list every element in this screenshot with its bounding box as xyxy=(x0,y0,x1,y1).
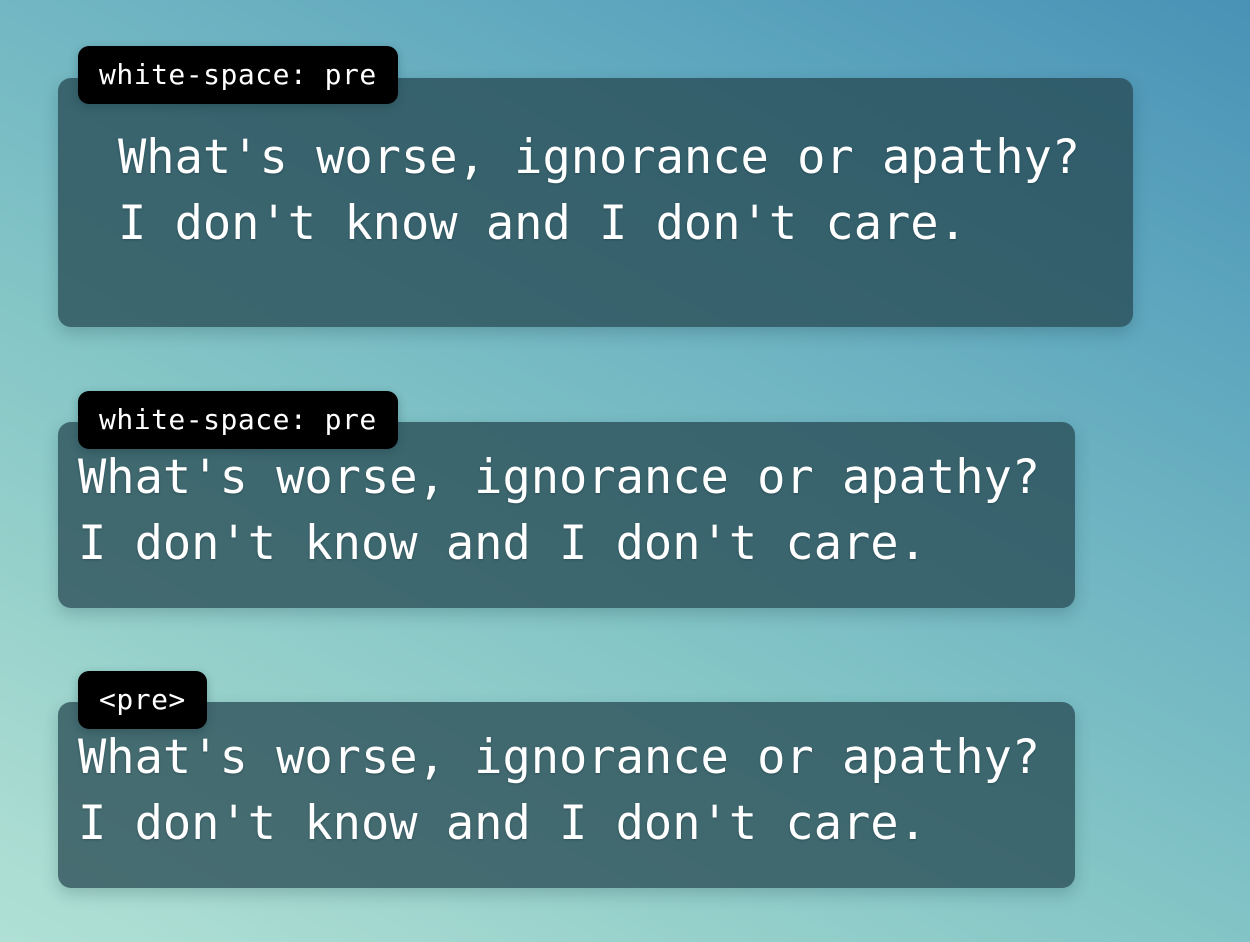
demo-stage: What's worse, ignorance or apathy? I don… xyxy=(0,0,1250,942)
badge-white-space-pre-2: white-space: pre xyxy=(78,391,398,449)
code-block-2: What's worse, ignorance or apathy? I don… xyxy=(58,422,1075,608)
code-text-3: What's worse, ignorance or apathy? I don… xyxy=(58,702,1075,857)
code-text-1: What's worse, ignorance or apathy? I don… xyxy=(58,78,1133,257)
badge-white-space-pre-1: white-space: pre xyxy=(78,46,398,104)
code-block-1: What's worse, ignorance or apathy? I don… xyxy=(58,78,1133,327)
code-block-3: What's worse, ignorance or apathy? I don… xyxy=(58,702,1075,888)
badge-pre-tag: <pre> xyxy=(78,671,207,729)
